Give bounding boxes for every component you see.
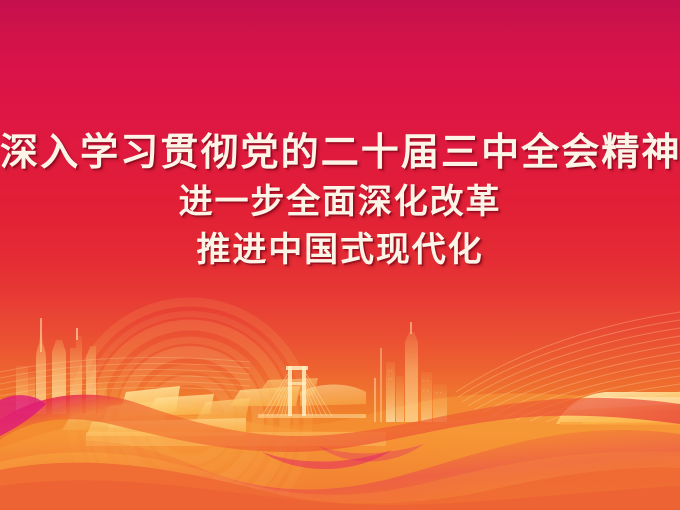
- headline-line-3: 推进中国式现代化: [0, 226, 680, 274]
- city-skyline-cluster: [374, 322, 447, 422]
- propaganda-banner: 深入学习贯彻党的二十届三中全会精神 进一步全面深化改革 推进中国式现代化: [0, 0, 680, 510]
- headline-block: 深入学习贯彻党的二十届三中全会精神 进一步全面深化改革 推进中国式现代化: [0, 128, 680, 274]
- headline-line-1: 深入学习贯彻党的二十届三中全会精神: [0, 128, 680, 178]
- headline-line-2: 进一步全面深化改革: [0, 178, 680, 226]
